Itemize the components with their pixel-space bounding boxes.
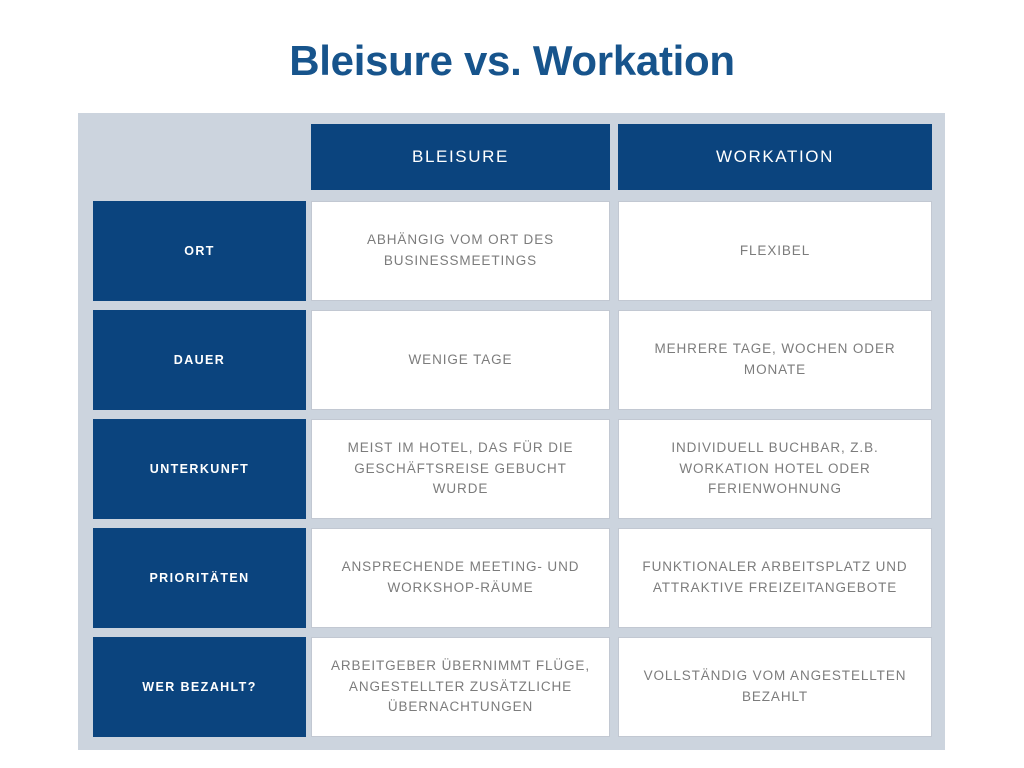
column-header-workation: WORKATION <box>618 124 932 190</box>
table-row: ORT ABHÄNGIG VOM ORT DES BUSINESSMEETING… <box>93 201 932 301</box>
table-corner-cell <box>93 124 306 190</box>
cell-text: VOLLSTÄNDIG VOM ANGESTELLTEN BEZAHLT <box>633 666 917 708</box>
row-label-wer-bezahlt: WER BEZAHLT? <box>93 637 306 737</box>
cell-text: ANSPRECHENDE MEETING- UND WORKSHOP-RÄUME <box>326 557 595 599</box>
cell-text: MEIST IM HOTEL, DAS FÜR DIE GESCHÄFTSREI… <box>326 438 595 501</box>
table-row: PRIORITÄTEN ANSPRECHENDE MEETING- UND WO… <box>93 528 932 628</box>
row-label-prioritaeten: PRIORITÄTEN <box>93 528 306 628</box>
table-row: UNTERKUNFT MEIST IM HOTEL, DAS FÜR DIE G… <box>93 419 932 519</box>
page-title: Bleisure vs. Workation <box>0 38 1024 84</box>
row-label-ort: ORT <box>93 201 306 301</box>
cell-dauer-bleisure: WENIGE TAGE <box>311 310 610 410</box>
column-header-bleisure: BLEISURE <box>311 124 610 190</box>
row-label-dauer: DAUER <box>93 310 306 410</box>
table-header-row: BLEISURE WORKATION <box>93 124 932 190</box>
cell-text: INDIVIDUELL BUCHBAR, Z.B. WORKATION HOTE… <box>633 438 917 501</box>
cell-text: ABHÄNGIG VOM ORT DES BUSINESSMEETINGS <box>326 230 595 272</box>
cell-text: MEHRERE TAGE, WOCHEN ODER MONATE <box>633 339 917 381</box>
cell-ort-workation: FLEXIBEL <box>618 201 932 301</box>
cell-unterkunft-workation: INDIVIDUELL BUCHBAR, Z.B. WORKATION HOTE… <box>618 419 932 519</box>
cell-ort-bleisure: ABHÄNGIG VOM ORT DES BUSINESSMEETINGS <box>311 201 610 301</box>
table-row: DAUER WENIGE TAGE MEHRERE TAGE, WOCHEN O… <box>93 310 932 410</box>
cell-text: FUNKTIONALER ARBEITSPLATZ UND ATTRAKTIVE… <box>633 557 917 599</box>
comparison-table: BLEISURE WORKATION ORT ABHÄNGIG VOM ORT … <box>78 113 945 750</box>
cell-wer-bezahlt-bleisure: ARBEITGEBER ÜBERNIMMT FLÜGE, ANGESTELLTE… <box>311 637 610 737</box>
cell-dauer-workation: MEHRERE TAGE, WOCHEN ODER MONATE <box>618 310 932 410</box>
cell-text: WENIGE TAGE <box>326 350 595 371</box>
slide-canvas: Bleisure vs. Workation BLEISURE WORKATIO… <box>0 0 1024 768</box>
cell-text: ARBEITGEBER ÜBERNIMMT FLÜGE, ANGESTELLTE… <box>326 656 595 719</box>
cell-prioritaeten-workation: FUNKTIONALER ARBEITSPLATZ UND ATTRAKTIVE… <box>618 528 932 628</box>
cell-unterkunft-bleisure: MEIST IM HOTEL, DAS FÜR DIE GESCHÄFTSREI… <box>311 419 610 519</box>
table-row: WER BEZAHLT? ARBEITGEBER ÜBERNIMMT FLÜGE… <box>93 637 932 737</box>
cell-text: FLEXIBEL <box>633 241 917 262</box>
cell-prioritaeten-bleisure: ANSPRECHENDE MEETING- UND WORKSHOP-RÄUME <box>311 528 610 628</box>
row-label-unterkunft: UNTERKUNFT <box>93 419 306 519</box>
cell-wer-bezahlt-workation: VOLLSTÄNDIG VOM ANGESTELLTEN BEZAHLT <box>618 637 932 737</box>
